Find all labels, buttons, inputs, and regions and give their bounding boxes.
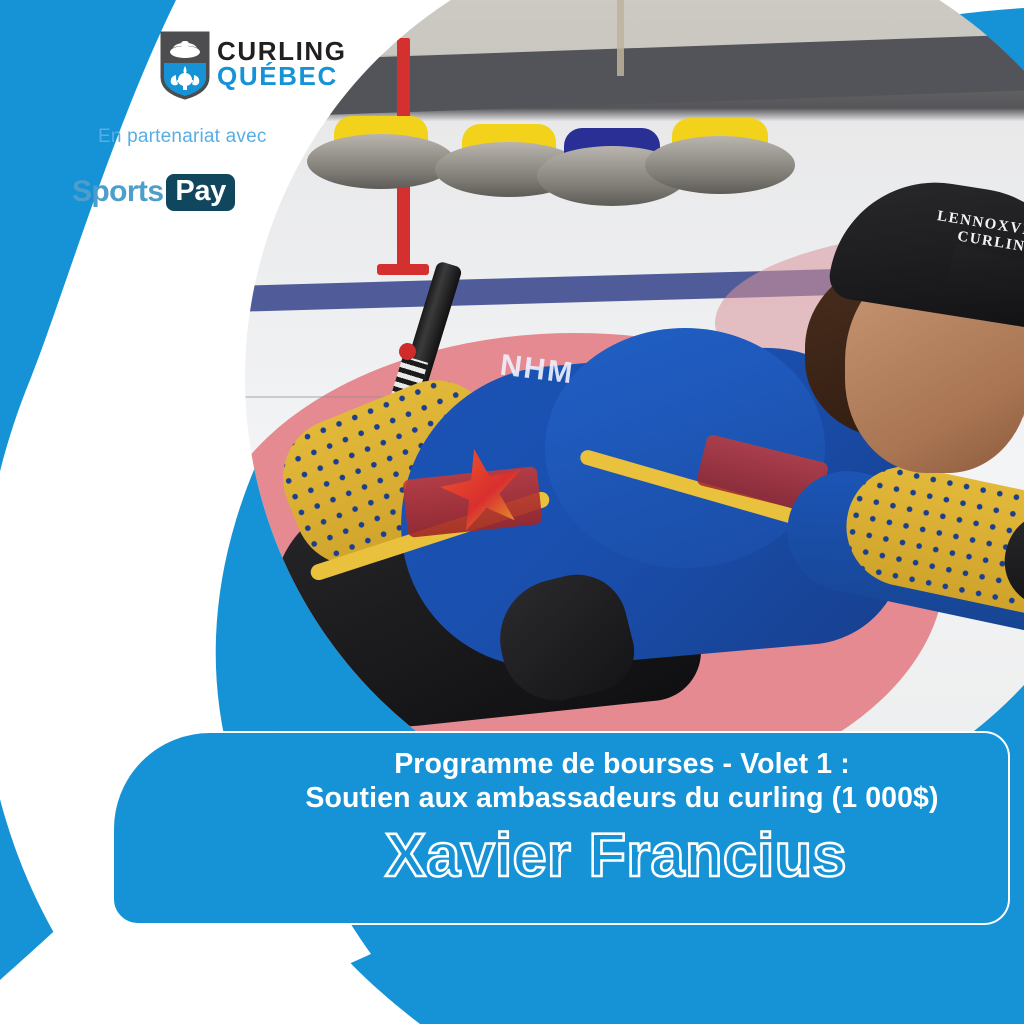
banner-title: Programme de bourses - Volet 1 : Soutien… [262,747,982,815]
curling-quebec-logo[interactable]: CURLING QUÉBEC [160,30,332,102]
curling-quebec-shield-icon [160,30,210,100]
partner-label: En partenariat avec [98,126,267,148]
athlete-figure: NHM LENNOXVILLE CURLING [245,0,1024,828]
award-banner: Programme de bourses - Volet 1 : Soutien… [112,731,1010,925]
header-block: CURLING QUÉBEC En partenariat avec Sport… [0,0,345,230]
sportspay-logo[interactable]: Sports Pay [72,175,235,209]
curling-athlete-photo: NHM LENNOXVILLE CURLING [245,0,1024,828]
sportspay-pay-badge: Pay [166,174,234,211]
curling-quebec-wordmark: CURLING QUÉBEC [217,39,347,89]
photo-content: NHM LENNOXVILLE CURLING [245,0,1024,828]
recipient-name: Xavier Francius [246,819,986,891]
athlete-shoulder [545,328,825,568]
sportspay-sports-text: Sports [72,175,163,209]
banner-title-line1: Programme de bourses - Volet 1 : [262,747,982,781]
banner-title-line2: Soutien aux ambassadeurs du curling (1 0… [262,781,982,815]
logo-line-quebec: QUÉBEC [217,64,347,89]
poster-canvas: NHM LENNOXVILLE CURLING [0,0,1024,1024]
